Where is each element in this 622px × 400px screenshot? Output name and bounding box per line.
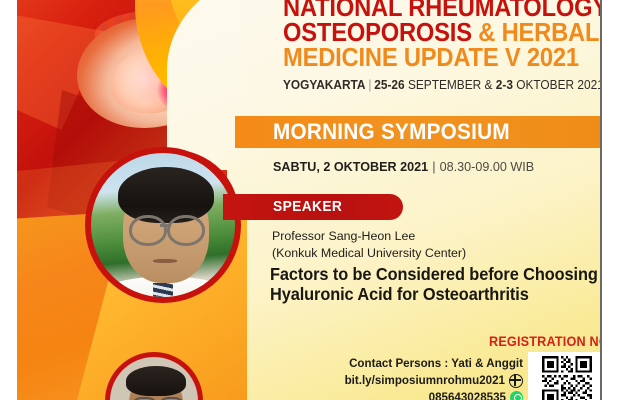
event-headline: NATIONAL RHEUMATOLOGY OSTEOPOROSIS & HER… (283, 0, 602, 92)
contact-block: Contact Persons : Yati & Anggit bit.ly/s… (333, 356, 523, 400)
headline-subline: YOGYAKARTA|25-26 SEPTEMBER & 2-3 OKTOBER… (283, 78, 597, 92)
speaker-pill-label: SPEAKER (273, 199, 342, 215)
portrait-mouth (153, 259, 177, 263)
event-dates-2: 2-3 (496, 78, 513, 92)
headline-herbal: & HERBAL (478, 19, 599, 47)
contact-phone[interactable]: 085643028535 (429, 390, 506, 400)
portrait-tie (153, 283, 173, 303)
right-margin (604, 0, 622, 400)
registration-link-row[interactable]: bit.ly/simposiumnrohmu2021 (333, 373, 523, 390)
eyeglasses-bridge (160, 224, 169, 227)
qr-code-graphic (532, 356, 602, 400)
speaker-portrait-primary (85, 147, 241, 303)
poster-root: NATIONAL RHEUMATOLOGY OSTEOPOROSIS & HER… (0, 0, 622, 400)
headline-osteoporosis: OSTEOPOROSIS (283, 19, 472, 47)
talk-title-line-1: Factors to be Considered before Choosing (270, 264, 598, 284)
poster-card: NATIONAL RHEUMATOLOGY OSTEOPOROSIS & HER… (17, 0, 602, 400)
talk-title: Factors to be Considered before Choosing… (270, 264, 598, 305)
session-date: SABTU, 2 OKTOBER 2021 (273, 160, 428, 174)
registration-link[interactable]: bit.ly/simposiumnrohmu2021 (345, 373, 505, 390)
session-banner-label: MORNING SYMPOSIUM (273, 119, 510, 145)
left-margin (0, 0, 17, 400)
headline-line-2: OSTEOPOROSIS & HERBAL (283, 21, 590, 46)
speaker-name: Professor Sang-Heon Lee (272, 228, 466, 245)
session-time: 08.30-09.00 WIB (440, 160, 535, 174)
whatsapp-icon (510, 391, 523, 400)
subline-divider: | (365, 78, 374, 92)
event-month-2: OKTOBER 2021 (516, 78, 602, 92)
whatsapp-row[interactable]: 085643028535 (333, 390, 523, 400)
session-banner: MORNING SYMPOSIUM (235, 116, 602, 148)
event-city: YOGYAKARTA (283, 78, 365, 92)
talk-title-line-2: Hyaluronic Acid for Osteoarthritis (270, 284, 598, 304)
event-dates-1: 25-26 (374, 78, 404, 92)
globe-icon (509, 374, 523, 388)
event-month-1: SEPTEMBER & (408, 78, 492, 92)
contact-persons: Contact Persons : Yati & Anggit (349, 356, 523, 373)
speaker-pill: SPEAKER (223, 194, 403, 220)
contact-persons-row: Contact Persons : Yati & Anggit (333, 356, 523, 373)
headline-line-3: MEDICINE UPDATE V 2021 (283, 46, 590, 71)
registration-cta[interactable]: REGISTRATION NOW ! (489, 334, 602, 349)
qr-code[interactable] (528, 352, 602, 400)
portrait-hair-small (126, 366, 186, 396)
session-datetime: SABTU, 2 OKTOBER 2021|08.30-09.00 WIB (273, 160, 534, 174)
headline-line-1: NATIONAL RHEUMATOLOGY (283, 0, 590, 21)
datetime-divider: | (428, 160, 440, 174)
eyeglasses-right-lens (167, 215, 205, 246)
speaker-affiliation: (Konkuk Medical University Center) (272, 245, 466, 262)
speaker-details: Professor Sang-Heon Lee (Konkuk Medical … (272, 228, 466, 261)
portrait-hair (118, 167, 214, 223)
eyeglasses-left-lens (129, 215, 167, 246)
